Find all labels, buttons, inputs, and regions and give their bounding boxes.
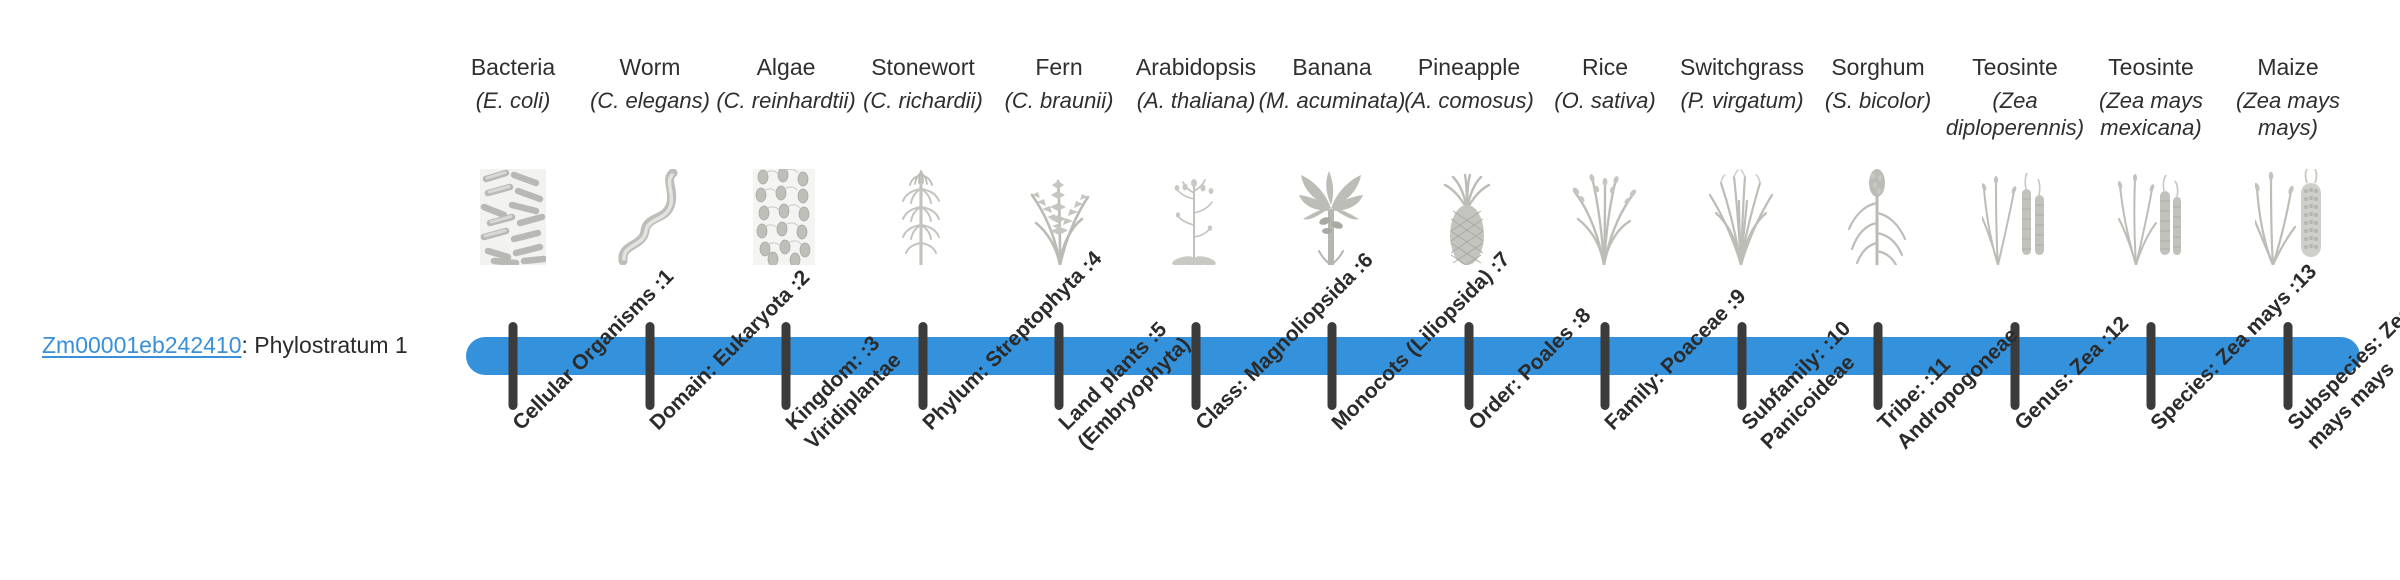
species-column: Teosinte(Zea mays mexicana) [2071, 52, 2231, 141]
rice-plant-icon [1525, 170, 1685, 265]
species-column: Algae(C. reinhardtii) [706, 52, 866, 114]
species-latin-name: (Zea mays mexicana) [2071, 87, 2231, 141]
species-common-name: Banana [1252, 52, 1412, 82]
species-latin-name: (C. reinhardtii) [706, 87, 866, 114]
rank-column: 6: Class: Magnoliopsida [1196, 417, 1198, 419]
tick-mark [782, 322, 791, 410]
rank-column: 11: Tribe: Andropogoneae [1878, 417, 1880, 419]
rank-column: 10: Subfamily: Panicoideae [1742, 417, 1744, 419]
tick-mark [1055, 322, 1064, 410]
banana-plant-icon [1252, 170, 1412, 265]
phylostratigraphy-figure: Zm00001eb242410: Phylostratum 1 Bacteria… [0, 0, 2400, 580]
gene-row-label: Zm00001eb242410: Phylostratum 1 [42, 330, 408, 360]
species-latin-name: (M. acuminata) [1252, 87, 1412, 114]
teosinte-mexicana-icon [2071, 170, 2231, 265]
rank-column: 1: Cellular Organisms [513, 417, 515, 419]
species-column: Maize(Zea mays mays) [2208, 52, 2368, 141]
rank-column: 2: Domain: Eukaryota [650, 417, 652, 419]
tick-mark [646, 322, 655, 410]
rank-column: 7: Monocots (Liliopsida) [1332, 417, 1334, 419]
tick-mark [1601, 322, 1610, 410]
rank-column: 9: Family: Poaceae [1605, 417, 1607, 419]
species-column: Bacteria(E. coli) [433, 52, 593, 114]
maize-ear-icon [2208, 170, 2368, 265]
sorghum-icon [1798, 170, 1958, 265]
bacteria-icon [433, 170, 593, 265]
species-latin-name: (O. sativa) [1525, 87, 1685, 114]
tick-mark [1738, 322, 1747, 410]
species-latin-name: (S. bicolor) [1798, 87, 1958, 114]
phylostratum-value: Phylostratum 1 [254, 332, 407, 358]
algae-cells-icon [706, 170, 866, 265]
tick-mark [2284, 322, 2293, 410]
species-common-name: Bacteria [433, 52, 593, 82]
tick-mark [1328, 322, 1337, 410]
fern-icon [979, 170, 1139, 265]
gene-label-separator: : [242, 332, 255, 358]
species-common-name: Sorghum [1798, 52, 1958, 82]
species-column: Banana(M. acuminata) [1252, 52, 1412, 114]
rank-column: 5: Land plants (Embryophyta) [1059, 417, 1061, 419]
species-common-name: Algae [706, 52, 866, 82]
tick-mark [2147, 322, 2156, 410]
species-latin-name: (E. coli) [433, 87, 593, 114]
species-common-name: Fern [979, 52, 1139, 82]
species-common-name: Teosinte [2071, 52, 2231, 82]
gene-accession-link[interactable]: Zm00001eb242410 [42, 332, 242, 358]
rank-column: 4: Phylum: Streptophyta [923, 417, 925, 419]
species-latin-name: (C. braunii) [979, 87, 1139, 114]
species-latin-name: (Zea mays mays) [2208, 87, 2368, 141]
rank-column: 12: Genus: Zea [2015, 417, 2017, 419]
tick-mark [509, 322, 518, 410]
species-column: Sorghum(S. bicolor) [1798, 52, 1958, 114]
species-common-name: Rice [1525, 52, 1685, 82]
rank-column: 13: Species: Zea mays [2151, 417, 2153, 419]
rank-column: 3: Kingdom: Viridiplantae [786, 417, 788, 419]
species-column: Fern(C. braunii) [979, 52, 1139, 114]
rank-column: 8: Order: Poales [1469, 417, 1471, 419]
rank-column: 14: Subspecies: Zea mays mays [2288, 417, 2290, 419]
species-common-name: Maize [2208, 52, 2368, 82]
tick-mark [1465, 322, 1474, 410]
species-column: Rice(O. sativa) [1525, 52, 1685, 114]
